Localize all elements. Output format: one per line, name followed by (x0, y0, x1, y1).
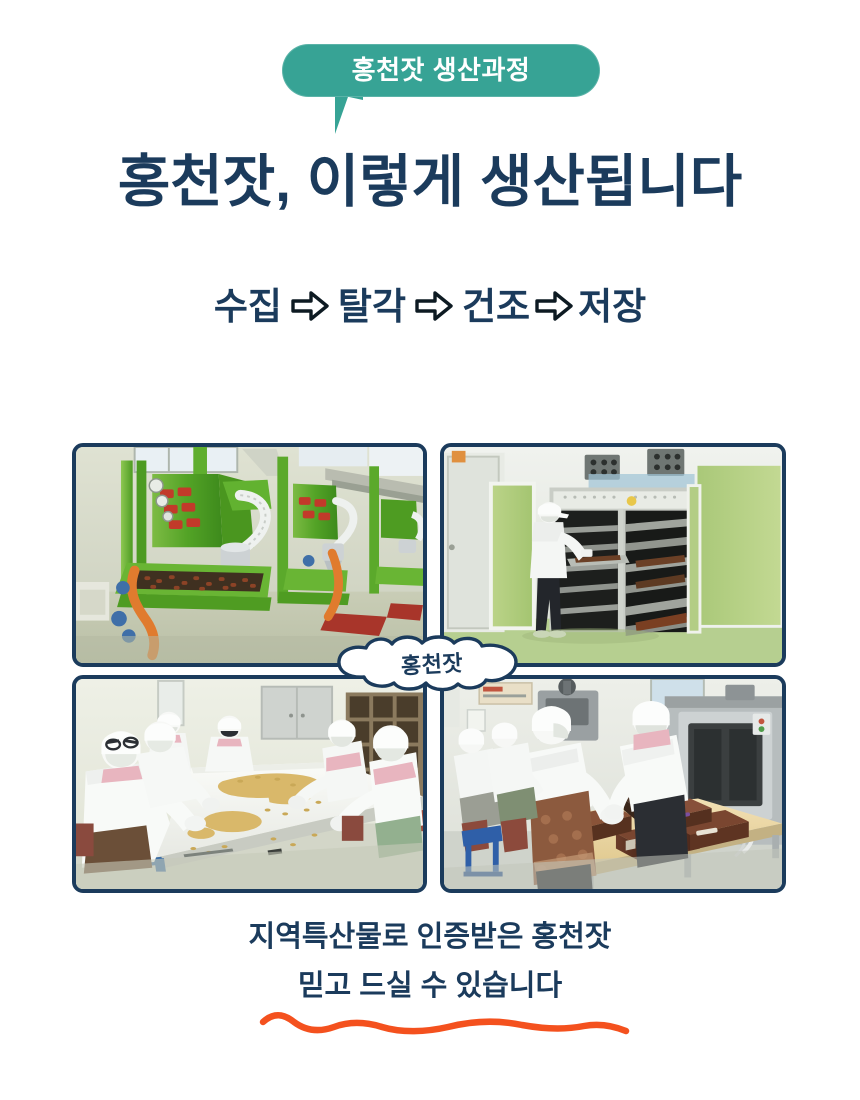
process-flow: 수집 탈각 건조 저장 (0, 286, 860, 326)
page-title: 홍천잣, 이렇게 생산됩니다 (0, 150, 860, 216)
speech-bubble-tail-icon (335, 94, 363, 134)
photo-packaging-line (440, 675, 786, 893)
kicker-label: 홍천잣 생산과정 (352, 57, 531, 85)
process-step-dry: 건조 (458, 288, 534, 325)
right-arrow-icon-1 (290, 286, 330, 326)
photo-collection-machinery-image (76, 447, 423, 663)
process-step-store: 저장 (574, 288, 650, 325)
footer-line-2: 믿고 드실 수 있습니다 (0, 971, 860, 1003)
photo-packaging-line-image (444, 679, 782, 889)
process-step-collect: 수집 (210, 288, 286, 325)
footer-line-1: 지역특산물로 인증받은 홍천잣 (0, 922, 860, 954)
footer-message: 지역특산물로 인증받은 홍천잣 믿고 드실 수 있습니다 (0, 922, 860, 1003)
right-arrow-icon-3 (534, 286, 574, 326)
photo-hand-sorting-table-image (76, 679, 423, 889)
wavy-underline-path (258, 1008, 630, 1038)
brand-badge: 홍천잣 (336, 634, 528, 692)
right-arrow-icon-2 (414, 286, 454, 326)
wavy-underline-icon (258, 1008, 630, 1038)
photo-hand-sorting-table (72, 675, 427, 893)
brand-badge-label: 홍천잣 (335, 629, 530, 697)
process-step-shell: 탈각 (334, 288, 410, 325)
kicker-bubble-body: 홍천잣 생산과정 (282, 44, 600, 97)
kicker-speech-bubble: 홍천잣 생산과정 (0, 44, 860, 140)
